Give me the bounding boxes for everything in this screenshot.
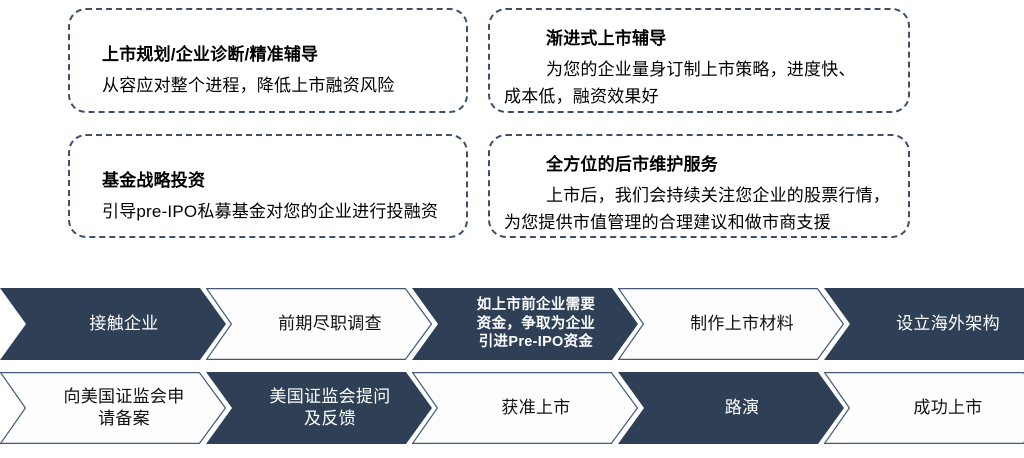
feature-card-body: 上市后，我们会持续关注您企业的股票行情， 为您提供市值管理的合理建议和做市商支援 xyxy=(504,182,894,237)
feature-card-listing-planning: 上市规划/企业诊断/精准辅导 从容应对整个进程，降低上市融资风险 xyxy=(68,8,468,113)
process-step-contact-enterprise[interactable]: 接触企业 xyxy=(0,288,226,360)
process-step-label: 成功上市 xyxy=(905,397,990,419)
feature-card-line: 为您的企业量身订制上市策略，进度快、 xyxy=(504,56,894,84)
feature-card-progressive-guidance: 渐进式上市辅导 为您的企业量身订制上市策略，进度快、 成本低，融资效果好 xyxy=(488,8,910,113)
process-step-successful-listing[interactable]: 成功上市 xyxy=(824,372,1024,444)
process-step-label: 获准上市 xyxy=(493,397,578,419)
feature-card-line: 成本低，融资效果好 xyxy=(504,83,894,111)
feature-card-body: 引导pre-IPO私募基金对您的企业进行投融资 xyxy=(84,198,452,226)
feature-card-line: 为您提供市值管理的合理建议和做市商支援 xyxy=(504,209,894,237)
process-step-sec-comments[interactable]: 美国证监会提问 及反馈 xyxy=(206,372,432,444)
process-step-label: 向美国证监会申 请备案 xyxy=(55,386,192,430)
process-step-label: 路演 xyxy=(717,397,768,419)
feature-card-title: 基金战略投资 xyxy=(84,168,452,194)
process-step-sec-filing[interactable]: 向美国证监会申 请备案 xyxy=(0,372,226,444)
process-step-roadshow[interactable]: 路演 xyxy=(618,372,844,444)
feature-card-line: 上市后，我们会持续关注您企业的股票行情， xyxy=(504,182,894,210)
process-step-label: 接触企业 xyxy=(81,313,166,335)
process-step-label: 美国证监会提问 及反馈 xyxy=(261,386,398,430)
process-step-listing-approved[interactable]: 获准上市 xyxy=(412,372,638,444)
process-step-pre-ipo-funding[interactable]: 如上市前企业需要 资金，争取为企业 引进Pre-IPO资金 xyxy=(412,288,638,360)
feature-card-line: 引导pre-IPO私募基金对您的企业进行投融资 xyxy=(102,198,452,226)
process-step-label: 前期尽职调查 xyxy=(270,313,390,335)
feature-card-body: 从容应对整个进程，降低上市融资风险 xyxy=(84,72,452,100)
feature-card-post-listing-service: 全方位的后市维护服务 上市后，我们会持续关注您企业的股票行情， 为您提供市值管理… xyxy=(488,134,910,238)
process-step-label: 如上市前企业需要 资金，争取为企业 引进Pre-IPO资金 xyxy=(469,296,603,353)
process-step-label: 制作上市材料 xyxy=(682,313,802,335)
feature-card-fund-strategic-investment: 基金战略投资 引导pre-IPO私募基金对您的企业进行投融资 xyxy=(68,134,468,238)
feature-card-body: 为您的企业量身订制上市策略，进度快、 成本低，融资效果好 xyxy=(504,56,894,111)
process-step-listing-materials[interactable]: 制作上市材料 xyxy=(618,288,844,360)
feature-card-title: 全方位的后市维护服务 xyxy=(504,152,894,178)
process-step-label: 设立海外架构 xyxy=(888,313,1008,335)
feature-card-title: 渐进式上市辅导 xyxy=(504,26,894,52)
process-flow-row-1: 接触企业前期尽职调查如上市前企业需要 资金，争取为企业 引进Pre-IPO资金制… xyxy=(0,288,1024,360)
feature-card-line: 从容应对整个进程，降低上市融资风险 xyxy=(102,72,452,100)
process-flow-row-2: 向美国证监会申 请备案美国证监会提问 及反馈获准上市路演成功上市 xyxy=(0,372,1024,444)
feature-card-title: 上市规划/企业诊断/精准辅导 xyxy=(84,42,452,68)
process-step-offshore-structure[interactable]: 设立海外架构 xyxy=(824,288,1024,360)
process-step-due-diligence[interactable]: 前期尽职调查 xyxy=(206,288,432,360)
